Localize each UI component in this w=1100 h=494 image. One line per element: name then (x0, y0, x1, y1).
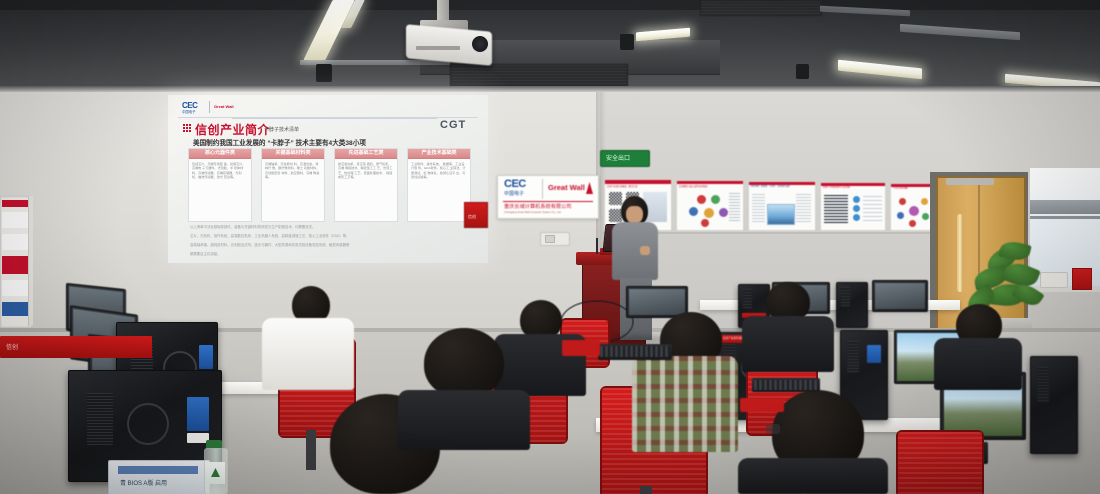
poster-panel-2-textblock (752, 194, 765, 222)
pc-tower-left-redband (0, 336, 152, 358)
poster-panel-1-text (729, 193, 740, 221)
poster-panel-3-labels (863, 196, 882, 222)
shelf-vertical-rail (28, 196, 33, 326)
slide-footer-line-0: 以上清单中涉及基础零部件、装备与关键材料的研发与生产制造技术，均需要攻关。 (190, 224, 315, 229)
desk-label-card-bar (118, 466, 198, 474)
desk-label-card-text: 青 BIOS A版 启用 (120, 478, 167, 487)
slide-card-3: 产业技术基础类 工业软件、操作系统、 数据库、工业设计软 件、EDA软件、核心工… (407, 148, 471, 222)
sign-company-cn: 重庆长城计算机系统有限公司 (504, 203, 571, 210)
poster-panel-3-step-1 (853, 196, 860, 203)
chair-5-mesh (898, 432, 982, 494)
poster-panel-3-step-3 (853, 214, 860, 221)
slide-card-1-body: 高端轴承、高性能材 料、高温合金、特种纤 维、碳纤维材料、稀土 功能材料、高性能… (262, 159, 324, 183)
slide-card-2-header: 先进基础工艺类 (335, 149, 397, 159)
student-foreground-glasses (766, 424, 780, 434)
pc-tower-back-2-vent (841, 287, 850, 307)
slide-card-3-header: 产业技术基础类 (408, 149, 470, 159)
slide-card-3-body: 工业软件、操作系统、 数据库、工业设计软 件、EDA软件、核心工 业算法、计量测… (408, 159, 470, 183)
pc-tower-mid-2-sticker (867, 345, 881, 363)
poster-panel-3-table (824, 195, 848, 223)
poster-panel-1-node-b (711, 195, 720, 204)
monitor-back-3[interactable] (872, 280, 928, 312)
poster-panel-4-spoke-4 (922, 213, 929, 220)
poster-panel-1-title: 信创整机与核心部件技术路线 (679, 184, 707, 188)
projector-mount (437, 0, 449, 22)
slide-footer-line-1: 芯片、光刻机、操作系统、高端数控机床、工业机器人系统、高精度减速工艺、核心工业软… (190, 233, 350, 238)
window-red-box (1072, 268, 1092, 290)
pc-tower-left-1-sticker (199, 345, 213, 369)
slide-header-rule (232, 118, 437, 119)
slide-corner-badge-label: 信创 (468, 214, 476, 220)
keyboard-mid-keys (754, 380, 818, 390)
sign-logo-cec-cn: 中国电子 (504, 190, 524, 197)
pc-tower-back-1-vent (743, 289, 752, 309)
slide-card-0: 核心元器件类 包括芯片、高端专用装 备、射频芯片、高端电 子元器件、光刻胶、半 … (188, 148, 252, 222)
poster-panel-1-node-f (701, 219, 709, 227)
presenter-hand (640, 246, 650, 255)
poster-panel-2-title: 操作系统 · 数据库 · 中间件 · 应用软件适配 (751, 185, 790, 188)
projector-lens (472, 36, 488, 52)
shelf-item-white-3 (2, 280, 28, 296)
slide-footer-line-3: 都需要自主化突破。 (190, 251, 221, 256)
student-plaid-torso (632, 356, 738, 452)
classroom-photo: CEC 中国电子 Great Wall CGT 信创产业简介 · 卡脖子技术清单… (0, 0, 1100, 494)
poster-panel-1-node-e (719, 208, 728, 217)
slide-card-1-header: 关键基础材料类 (262, 149, 324, 159)
sign-divider (542, 179, 543, 199)
poster-panel-4: 产业生态协同图 (890, 183, 934, 231)
hvac-vent-right (700, 0, 822, 16)
sign-logo-cec: CEC (504, 178, 526, 190)
slide-footer-line-2: 高端轴承钢、超纯铁材料、光刻胶及试剂、激光与器件、大型风洞和仿真试验设备测控系统… (190, 242, 349, 247)
wall-switch-button[interactable] (545, 235, 555, 243)
downlight-2 (620, 34, 634, 50)
ceiling-beam-left (0, 0, 1100, 10)
window-exterior-structure (1030, 200, 1100, 214)
sign-logo-greatwall: Great Wall (548, 183, 585, 192)
slide-card-1: 关键基础材料类 高端轴承、高性能材 料、高温合金、特种纤 维、碳纤维材料、稀土 … (261, 148, 325, 222)
slide-logo-cgt: CGT (440, 119, 466, 131)
poster-panel-3: 信创人才培养体系与认证流程 (820, 182, 886, 231)
student-far-right-torso (934, 338, 1022, 390)
sign-company-en: Chongqing Great Wall Computer System Co.… (504, 211, 561, 214)
poster-panel-0-title: 信创产业链生态图谱 · 解决方案 (607, 184, 637, 188)
pc-tower-right-edge-vent (1037, 367, 1049, 403)
poster-panel-2: 操作系统 · 数据库 · 中间件 · 应用软件适配 (748, 181, 816, 231)
projector-label-strip (416, 46, 460, 50)
pc-tower-left-2-sticker (187, 397, 209, 431)
poster-panel-4-spoke-3 (897, 212, 904, 219)
downlight-3 (796, 64, 809, 79)
poster-panel-0-qr-1 (609, 192, 622, 205)
slide-title: 信创产业简介 (195, 121, 270, 138)
exit-sign-label: 安全出口 (606, 153, 630, 162)
poster-panel-3-title: 信创人才培养体系与认证流程 (823, 186, 850, 189)
chair-1-post (306, 430, 316, 470)
slide-card-2-body: 航空发动机、真空蒸 镀机、燃气轮机、高端 焊接技术、精密加工工 艺、光刻工艺、热… (335, 159, 397, 183)
door-closer (946, 178, 994, 185)
shelf-item-blue (2, 302, 28, 316)
poster-panel-3-step-2 (853, 205, 860, 212)
student-front-left-torso (262, 318, 354, 390)
window-ledge-box (1040, 272, 1068, 288)
slide-card-2: 先进基础工艺类 航空发动机、真空蒸 镀机、燃气轮机、高端 焊接技术、精密加工工 … (334, 148, 398, 222)
pc-tower-left-2-fan (127, 403, 169, 445)
door-handle[interactable] (957, 214, 963, 292)
monitor-back-1-screen (629, 289, 685, 315)
poster-panel-4-spoke-1 (899, 198, 906, 205)
monitor-back-3-screen (875, 283, 925, 309)
slide-logo-greatwall: Great Wall (214, 104, 234, 109)
poster-panel-1-node-c (689, 207, 698, 216)
poster-panel-2-screenshot (767, 204, 795, 225)
poster-panel-1-node-a (697, 195, 706, 204)
keyboard-center-keys (600, 346, 670, 357)
pc-tower-left-2-vent (87, 393, 113, 445)
mousepad-mid (740, 398, 784, 412)
keyboard-center[interactable] (598, 344, 672, 360)
pc-tower-left-redband-text: 信创 (6, 342, 18, 351)
mousepad-center (562, 340, 600, 356)
student-right-rear-torso (742, 316, 834, 372)
water-bottle-cap (206, 440, 222, 448)
poster-panel-2-textblock-right (796, 194, 811, 222)
pc-tower-right-edge (1030, 356, 1078, 454)
keyboard-mid[interactable] (752, 378, 820, 392)
microphone-stand (596, 238, 598, 254)
poster-panel-4-title: 产业生态协同图 (893, 187, 908, 190)
slide-logo-cec-cn: 中国电子 (182, 109, 196, 114)
poster-panel-4-hub (909, 206, 919, 216)
company-wall-sign: CEC 中国电子 Great Wall 重庆长城计算机系统有限公司 Chongq… (497, 175, 599, 219)
sign-gw-mark (586, 182, 593, 194)
poster-panel-4-spoke-5 (909, 220, 916, 227)
shelf-item-white-2 (2, 234, 28, 250)
poster-panel-4-spoke-2 (921, 198, 928, 205)
shelf-item-red-1 (2, 200, 28, 207)
projection-screen: CEC 中国电子 Great Wall CGT 信创产业简介 · 卡脖子技术清单… (168, 95, 488, 263)
student-foreground-torso (738, 458, 888, 494)
student-front-bottom-torso (398, 390, 530, 450)
slide-subtitle: 美国制约我国工业发展的 “卡脖子” 技术主要有4大类38小项 (193, 137, 366, 147)
pc-tower-back-2 (836, 282, 868, 328)
slide-card-0-body: 包括芯片、高端专用装 备、射频芯片、高端电 子元器件、光刻胶、半 导体材料、高端… (189, 159, 251, 183)
pc-tower-mid-2-vent (847, 341, 859, 373)
chair-3-post (640, 486, 652, 494)
window-mullion-h (1030, 216, 1100, 219)
presenter-torso (612, 222, 658, 280)
slide-title-icon (183, 124, 191, 132)
shelf-item-red-2 (2, 256, 28, 274)
ceiling-wall-junction (0, 86, 1100, 92)
downlight-1 (316, 64, 332, 82)
poster-panel-1-node-d (704, 208, 714, 218)
slide-logo-divider (209, 101, 210, 113)
sign-rule (503, 201, 593, 202)
student-front-bottom-head (424, 328, 504, 398)
slide-card-0-header: 核心元器件类 (189, 149, 251, 159)
poster-panel-1: 信创整机与核心部件技术路线 (676, 180, 744, 231)
slide-title-suffix: · 卡脖子技术清单 (261, 126, 299, 133)
shelf-item-white-1 (2, 212, 28, 228)
chair-5[interactable] (896, 430, 984, 494)
